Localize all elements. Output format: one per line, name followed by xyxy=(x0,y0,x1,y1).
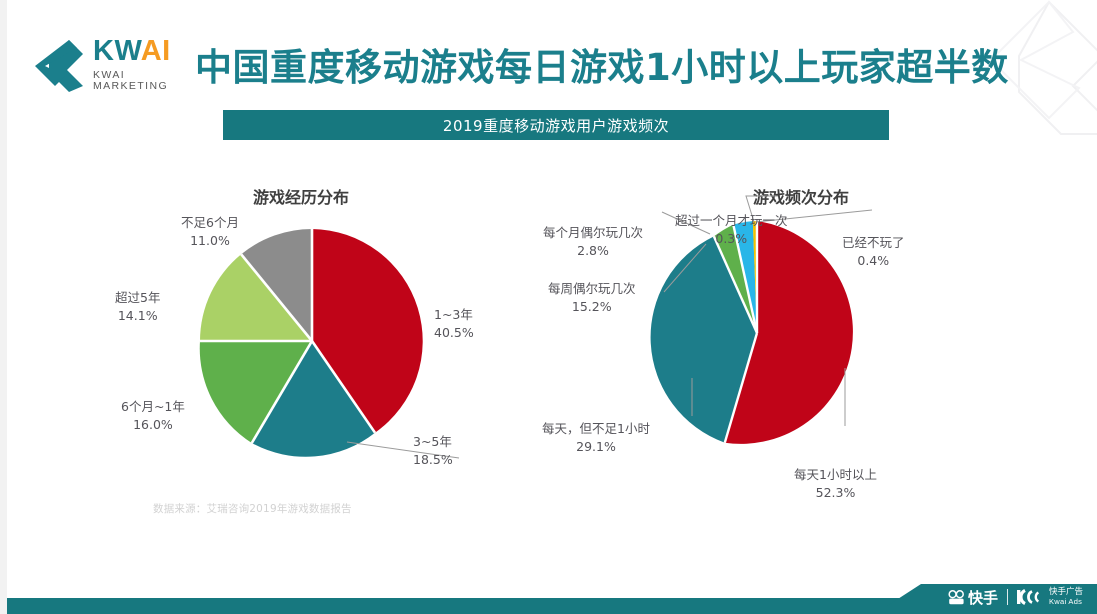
pie-label-daily-over-1h: 每天1小时以上 52.3% xyxy=(794,466,877,502)
brand-divider xyxy=(1007,589,1008,605)
pie-label-daily-under-1h: 每天，但不足1小时 29.1% xyxy=(542,420,650,456)
pie-label-monthly-occasional-value: 2.8% xyxy=(543,242,643,260)
pie-label-stopped-playing-value: 0.4% xyxy=(842,252,905,270)
subtitle-band: 2019重度移动游戏用户游戏频次 xyxy=(223,110,889,140)
pie-label-stopped-playing: 已经不玩了 0.4% xyxy=(842,234,905,270)
page-title: 中国重度移动游戏每日游戏1小时以上玩家超半数 xyxy=(195,37,1009,91)
footer-brand: 快手 快手广告 Kwai Ads xyxy=(948,586,1083,608)
pie-label-daily-over-1h-value: 52.3% xyxy=(794,484,877,502)
source-note: 数据来源：艾瑞咨询2019年游戏数据报告 xyxy=(153,501,352,516)
pie-label-3-5-years-value: 18.5% xyxy=(413,451,453,469)
kwai-wordmark-orange: AI xyxy=(141,35,171,67)
pie-label-over-month-once: 超过一个月才玩一次 0.3% xyxy=(675,212,788,248)
subtitle-band-label: 2019重度移动游戏用户游戏频次 xyxy=(443,115,669,136)
kwai-logo-text: KWAI KWAI MARKETING xyxy=(93,37,183,91)
pie-label-6months-1year-name: 6个月~1年 xyxy=(121,399,185,414)
kuaishou-camera-icon xyxy=(948,590,965,605)
kwai-ads-logo: 快手广告 Kwai Ads xyxy=(1017,588,1083,606)
pie-label-stopped-playing-name: 已经不玩了 xyxy=(842,235,905,250)
kwai-marketing-logo: KWAI KWAI MARKETING xyxy=(31,36,183,92)
pie-label-6months-1year-value: 16.0% xyxy=(121,416,185,434)
pie-label-1-3-years: 1~3年 40.5% xyxy=(434,306,474,342)
pie-label-over-5-years: 超过5年 14.1% xyxy=(115,289,160,325)
kuaishou-logo: 快手 xyxy=(948,587,998,608)
kwai-wordmark-teal: KW xyxy=(93,35,141,67)
pie-label-under-6-months-name: 不足6个月 xyxy=(181,215,239,230)
pie-label-weekly-occasional: 每周偶尔玩几次 15.2% xyxy=(548,280,636,316)
pie-label-6months-1year: 6个月~1年 16.0% xyxy=(121,398,185,434)
chart-gaming-experience: 游戏经历分布 xyxy=(137,176,557,516)
kwai-ads-label-en: Kwai Ads xyxy=(1049,598,1083,607)
chart-title-gaming-experience: 游戏经历分布 xyxy=(91,184,511,208)
pie-gaming-frequency xyxy=(642,218,872,448)
pie-label-monthly-occasional: 每个月偶尔玩几次 2.8% xyxy=(543,224,643,260)
pie-label-daily-under-1h-value: 29.1% xyxy=(542,438,650,456)
kwai-chevron-logo-icon xyxy=(31,36,87,92)
pie-label-over-month-once-value: 0.3% xyxy=(675,230,788,248)
pie-label-daily-over-1h-name: 每天1小时以上 xyxy=(794,467,877,482)
pie-label-over-month-once-name: 超过一个月才玩一次 xyxy=(675,213,788,228)
pie-label-3-5-years: 3~5年 18.5% xyxy=(413,433,453,469)
pie-label-over-5-years-value: 14.1% xyxy=(115,307,160,325)
slide-header: KWAI KWAI MARKETING 中国重度移动游戏每日游戏1小时以上玩家超… xyxy=(31,28,1097,100)
slide: KWAI KWAI MARKETING 中国重度移动游戏每日游戏1小时以上玩家超… xyxy=(0,0,1097,614)
pie-gaming-experience xyxy=(197,226,427,456)
chart-title-gaming-frequency: 游戏频次分布 xyxy=(566,184,1036,208)
kwai-ads-text: 快手广告 Kwai Ads xyxy=(1049,588,1083,606)
pie-label-monthly-occasional-name: 每个月偶尔玩几次 xyxy=(543,225,643,240)
kwai-wordmark: KWAI xyxy=(93,37,183,66)
pie-label-weekly-occasional-name: 每周偶尔玩几次 xyxy=(548,281,636,296)
pie-label-3-5-years-name: 3~5年 xyxy=(413,434,452,449)
kwai-logo-subtitle: KWAI MARKETING xyxy=(93,70,183,91)
pie-label-weekly-occasional-value: 15.2% xyxy=(548,298,636,316)
pie-label-daily-under-1h-name: 每天，但不足1小时 xyxy=(542,421,650,436)
pie-label-under-6-months-value: 11.0% xyxy=(181,232,239,250)
chart-gaming-frequency: 游戏频次分布 xyxy=(552,176,1022,516)
pie-label-1-3-years-name: 1~3年 xyxy=(434,307,473,322)
charts-area: 游戏经历分布 xyxy=(7,176,1097,526)
pie-label-1-3-years-value: 40.5% xyxy=(434,324,474,342)
pie-label-over-5-years-name: 超过5年 xyxy=(115,290,160,305)
kuaishou-label: 快手 xyxy=(968,587,998,608)
pie-label-under-6-months: 不足6个月 11.0% xyxy=(181,214,239,250)
kwai-ads-arcs-icon xyxy=(1017,589,1043,605)
